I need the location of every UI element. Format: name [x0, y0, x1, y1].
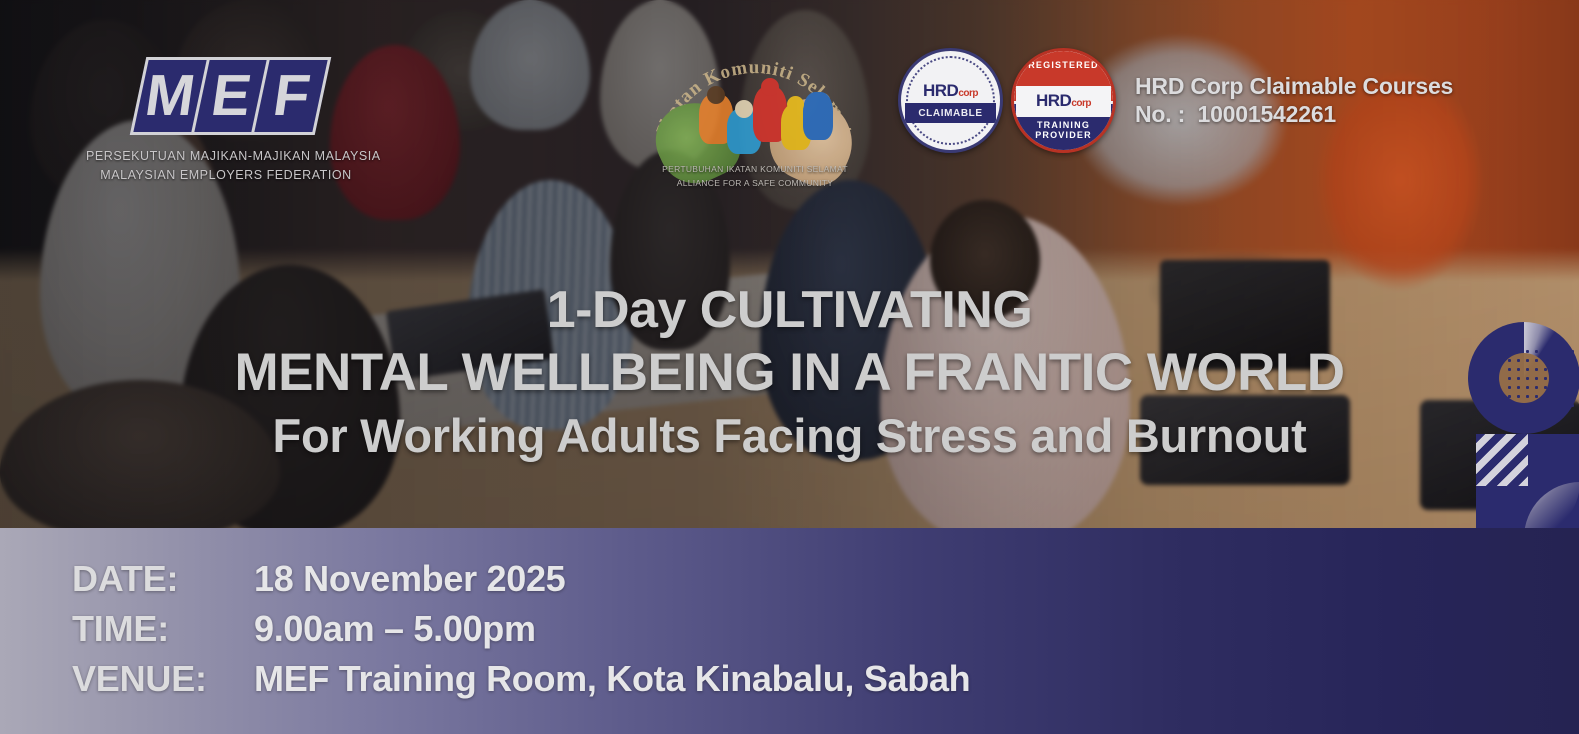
event-date-row: DATE: 18 November 2025: [72, 558, 970, 600]
hrd-course-number-value: 10001542261: [1198, 101, 1337, 127]
mef-letter-e: E: [208, 67, 254, 125]
hrd-claimable-badge-icon: HRDcorp CLAIMABLE: [898, 48, 1003, 153]
mef-subtitle-english: MALAYSIAN EMPLOYERS FEDERATION: [86, 166, 366, 185]
decorative-diagonal-stripes: [1476, 434, 1528, 486]
event-time-row: TIME: 9.00am – 5.00pm: [72, 608, 970, 650]
mef-letter-f: F: [270, 67, 313, 125]
hrd-reg-bottom-arc-label: TRAINING PROVIDER: [1014, 120, 1113, 140]
course-title: 1-Day CULTIVATING MENTAL WELLBEING IN A …: [0, 280, 1579, 466]
event-details-panel: DATE: 18 November 2025 TIME: 9.00am – 5.…: [0, 528, 1579, 734]
decorative-square-shape: [1476, 434, 1579, 538]
event-time-label: TIME:: [72, 608, 254, 650]
iks-figure-blue2: [803, 92, 833, 140]
training-course-banner: M E F PERSEKUTUAN MAJIKAN-MAJIKAN MALAYS…: [0, 0, 1579, 734]
hrd-reg-corp: corp: [1071, 98, 1091, 109]
hrd-claim-corp: corp: [958, 88, 978, 99]
mef-subtitle-malay: PERSEKUTUAN MAJIKAN-MAJIKAN MALAYSIA: [86, 147, 366, 166]
event-time-value: 9.00am – 5.00pm: [254, 608, 536, 650]
hrd-claim-band-label: CLAIMABLE: [918, 108, 982, 119]
hrd-course-number-label: No. :: [1135, 101, 1185, 127]
mef-letter-m: M: [142, 67, 198, 125]
iks-head-4: [787, 96, 804, 113]
hrd-reg-brand: HRD: [1036, 91, 1071, 110]
iks-head-3: [761, 78, 779, 96]
event-date-label: DATE:: [72, 558, 254, 600]
mef-subtitle: PERSEKUTUAN MAJIKAN-MAJIKAN MALAYSIA MAL…: [86, 147, 366, 185]
event-venue-label: VENUE:: [72, 658, 254, 700]
course-title-line-3: For Working Adults Facing Stress and Bur…: [0, 406, 1579, 466]
hrd-corp-badges: HRDcorp CLAIMABLE HRDcorp REGISTERED TRA…: [898, 48, 1116, 153]
event-details-rows: DATE: 18 November 2025 TIME: 9.00am – 5.…: [72, 558, 970, 708]
event-date-value: 18 November 2025: [254, 558, 565, 600]
iks-subtitle-english: ALLIANCE FOR A SAFE COMMUNITY: [645, 176, 865, 190]
hrd-registered-training-provider-badge-icon: HRDcorp REGISTERED TRAINING PROVIDER: [1011, 48, 1116, 153]
iks-head-2: [735, 100, 753, 118]
hrd-reg-top-arc-label: REGISTERED: [1014, 60, 1113, 70]
event-venue-value: MEF Training Room, Kota Kinabalu, Sabah: [254, 658, 970, 700]
hrd-claimable-info: HRD Corp Claimable Courses No. : 1000154…: [1135, 72, 1453, 128]
hrd-course-number-line: No. : 10001542261: [1135, 100, 1453, 128]
decorative-dot-grid: [1505, 347, 1575, 407]
course-title-line-1: 1-Day CULTIVATING: [0, 280, 1579, 341]
iks-subtitle-malay: PERTUBUHAN IKATAN KOMUNITI SELAMAT: [645, 162, 865, 176]
alliance-safe-community-logo: Ikatan Komuniti Selamat PERTUBUHAN IKATA…: [645, 42, 865, 192]
course-title-line-2: MENTAL WELLBEING IN A FRANTIC WORLD: [0, 341, 1579, 406]
hrd-claimable-courses-line: HRD Corp Claimable Courses: [1135, 72, 1453, 100]
mef-logo: M E F PERSEKUTUAN MAJIKAN-MAJIKAN MALAYS…: [86, 57, 366, 185]
iks-subtitle: PERTUBUHAN IKATAN KOMUNITI SELAMAT ALLIA…: [645, 162, 865, 191]
mef-logo-mark: M E F: [130, 57, 332, 135]
iks-head-1: [707, 86, 725, 104]
event-venue-row: VENUE: MEF Training Room, Kota Kinabalu,…: [72, 658, 970, 700]
hrd-claim-brand: HRD: [923, 81, 958, 100]
